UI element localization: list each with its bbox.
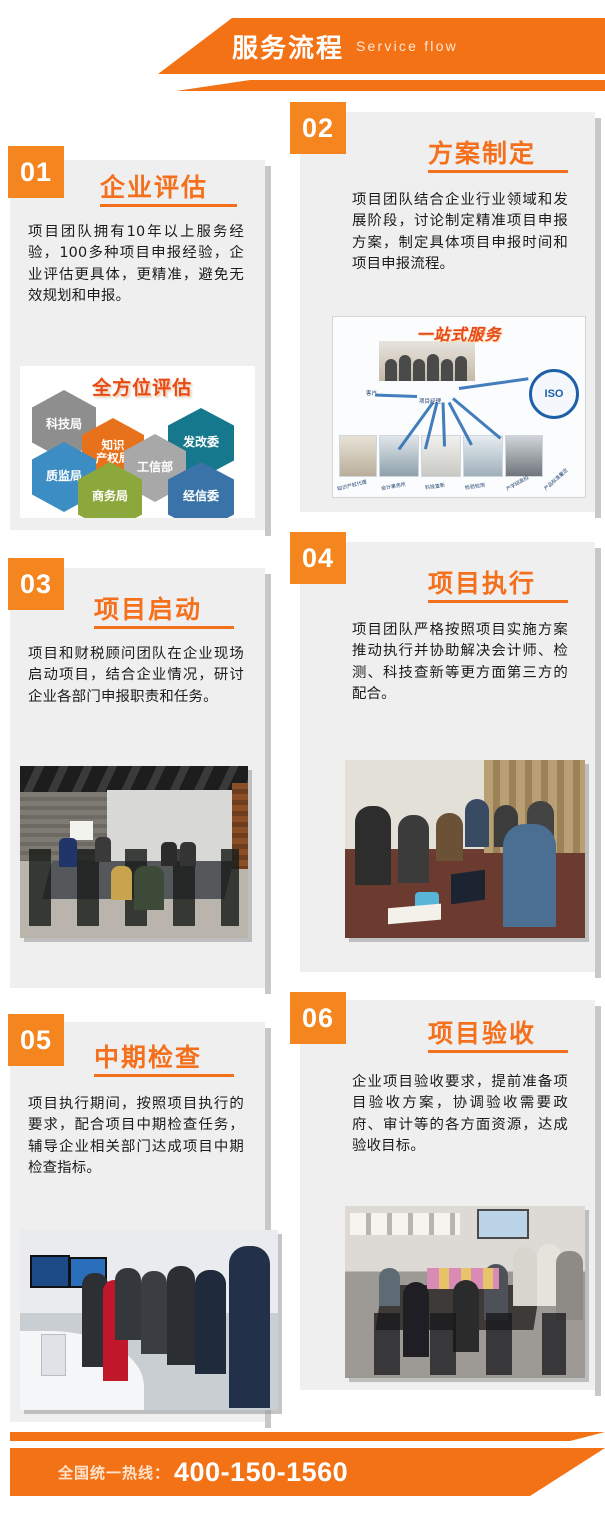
- step-card-01[interactable]: 01 企业评估 项目团队拥有10年以上服务经验，100多种项目申报经验，企业评估…: [10, 160, 265, 530]
- step-body-05: 项目执行期间，按照项目执行的要求，配合项目中期检查任务，辅导企业相关部门达成项目…: [28, 1094, 244, 1179]
- title-underline-05: [94, 1074, 234, 1077]
- one-stop-title: 一站式服务: [416, 321, 501, 345]
- page-header: 服务流程 Service flow: [0, 0, 605, 110]
- one-stop-service-figure: 一站式服务 客户 项目经理 知识产权代理 会计事务所 科技查新 检验检测 产学: [332, 316, 586, 498]
- step-card-06[interactable]: 06 项目验收 企业项目验收要求，提前准备项目验收方案，协调验收需要政府、审计等…: [300, 1000, 595, 1390]
- step-card-05[interactable]: 05 中期检查 项目执行期间，按照项目执行的要求，配合项目中期检查任务，辅导企业…: [10, 1022, 265, 1422]
- step-body-01: 项目团队拥有10年以上服务经验，100多种项目申报经验，企业评估更具体，更精准，…: [28, 222, 244, 307]
- hexagon-assessment-figure: 全方位评估 科技局 知识 产权局 发改委 质监局 工信部 商务局 经信委: [20, 366, 255, 518]
- step-title-02: 方案制定: [428, 134, 536, 170]
- step-body-03: 项目和财税顾问团队在企业现场启动项目，结合企业情况，研讨企业各部门申报职责和任务…: [28, 644, 244, 708]
- step-body-06: 企业项目验收要求，提前准备项目验收方案，协调验收需要政府、审计等的各方面资源，达…: [352, 1072, 568, 1157]
- hex-figure-title: 全方位评估: [92, 373, 192, 400]
- header-stripe-shape: [0, 80, 605, 91]
- hotline-number[interactable]: 400-150-1560: [174, 1457, 348, 1488]
- step-number-badge-01: 01: [8, 146, 64, 198]
- one-stop-bottom-label-2: 科技查新: [425, 482, 446, 492]
- step-title-03: 项目启动: [94, 590, 202, 626]
- step-body-04: 项目团队严格按照项目实施方案推动执行并协助解决会计师、检测、科技查新等更方面第三…: [352, 620, 568, 705]
- one-stop-bottom-label-3: 检验检测: [465, 482, 486, 492]
- header-title-group: 服务流程 Service flow: [0, 18, 605, 74]
- title-underline-01: [100, 204, 237, 207]
- one-stop-center-label-0: 客户: [366, 389, 377, 397]
- one-stop-arrow-0: [375, 394, 417, 398]
- step-title-01: 企业评估: [100, 168, 208, 204]
- step-number-badge-03: 03: [8, 558, 64, 610]
- iso-seal-icon: ISO: [529, 369, 579, 419]
- photo-showroom-visit: [20, 1230, 278, 1410]
- step-number-badge-04: 04: [290, 532, 346, 584]
- one-stop-arrow-3: [442, 402, 447, 446]
- title-underline-04: [428, 600, 568, 603]
- title-underline-02: [428, 170, 568, 173]
- hotline-label: 全国统一热线：: [58, 1462, 170, 1483]
- one-stop-hero-photo: [379, 341, 475, 381]
- photo-working-meeting: [345, 760, 585, 938]
- footer-stripe-shape: [10, 1432, 605, 1441]
- step-title-06: 项目验收: [428, 1014, 536, 1050]
- one-stop-thumb-4: [505, 435, 543, 477]
- one-stop-bottom-label-5: 产品标准量定: [543, 467, 570, 492]
- page-title: 服务流程: [232, 28, 344, 65]
- step-card-03[interactable]: 03 项目启动 项目和财税顾问团队在企业现场启动项目，结合企业情况，研讨企业各部…: [10, 568, 265, 988]
- step-title-04: 项目执行: [428, 564, 536, 600]
- title-underline-06: [428, 1050, 568, 1053]
- one-stop-bottom-label-1: 会计事务所: [381, 481, 407, 492]
- title-underline-03: [94, 626, 234, 629]
- photo-conference-room: [20, 766, 248, 938]
- step-number-badge-06: 06: [290, 992, 346, 1044]
- step-title-05: 中期检查: [94, 1038, 202, 1074]
- one-stop-thumb-0: [339, 435, 377, 477]
- one-stop-center-label-1: 项目经理: [419, 397, 441, 405]
- page-subtitle: Service flow: [356, 38, 458, 54]
- one-stop-bottom-label-0: 知识产权代理: [337, 478, 368, 492]
- step-card-04[interactable]: 04 项目执行 项目团队严格按照项目实施方案推动执行并协助解决会计师、检测、科技…: [300, 542, 595, 972]
- photo-acceptance-meeting: [345, 1206, 585, 1378]
- one-stop-thumb-1: [379, 435, 419, 477]
- step-body-02: 项目团队结合企业行业领域和发展阶段，讨论制定精准项目申报方案，制定具体项目申报时…: [352, 190, 568, 275]
- hotline-group: 全国统一热线： 400-150-1560: [58, 1448, 348, 1496]
- one-stop-bottom-label-4: 产学研高校: [505, 474, 530, 493]
- step-number-badge-05: 05: [8, 1014, 64, 1066]
- step-number-badge-02: 02: [290, 102, 346, 154]
- step-card-02[interactable]: 02 方案制定 项目团队结合企业行业领域和发展阶段，讨论制定精准项目申报方案，制…: [300, 112, 595, 512]
- page-footer: 全国统一热线： 400-150-1560: [0, 1418, 605, 1538]
